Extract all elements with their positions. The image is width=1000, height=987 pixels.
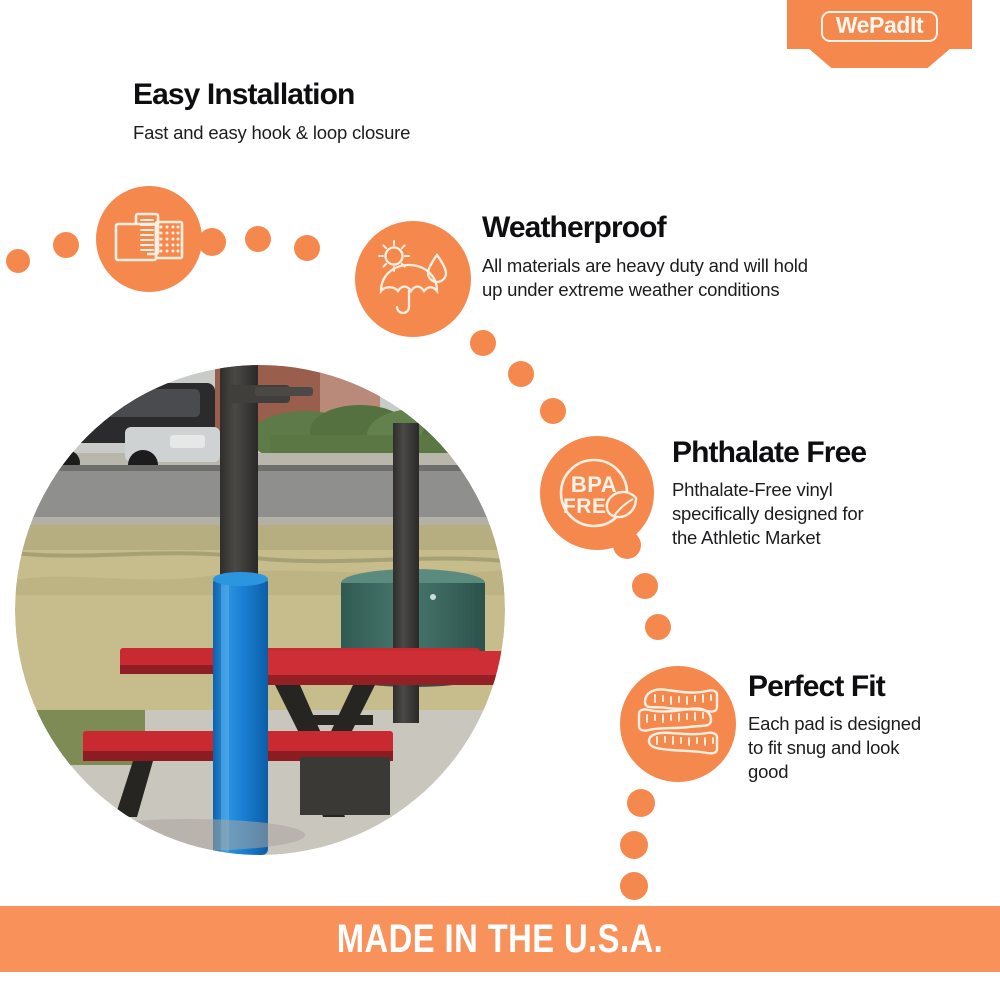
feature-description: Fast and easy hook & loop closure [133,121,410,145]
made-in-usa-text: MADE IN THE U.S.A. [337,917,663,962]
logo-banner-shape: WePadIt [787,0,972,68]
path-dot [53,232,79,258]
feature-title: Phthalate Free [672,437,962,469]
bpa-label-line1: BPA [571,472,617,497]
bpa-free-leaf-icon: BPA FREE [540,436,654,550]
product-photo [15,365,505,855]
feature-description-line2: to fit snug and look [748,736,988,760]
path-dot [540,398,566,424]
logo-text: WePadIt [836,12,924,38]
feature-title: Easy Installation [133,79,410,111]
hook-and-loop-icon [96,186,202,292]
path-dot [245,226,271,252]
feature-description-line1: Each pad is designed [748,712,988,736]
path-dot [645,614,671,640]
feature-description-line3: the Athletic Market [672,526,962,550]
feature-phthalate-free: Phthalate Free Phthalate-Free vinyl spec… [672,437,962,551]
path-dot [198,228,226,256]
path-dot [632,573,658,599]
photo-illustration [15,365,505,855]
path-dot [6,249,30,273]
feature-weatherproof: Weatherproof All materials are heavy dut… [482,212,902,302]
feature-perfect-fit: Perfect Fit Each pad is designed to fit … [748,671,988,785]
feature-description-line2: up under extreme weather conditions [482,278,902,302]
path-dot [620,831,648,859]
feature-description-line1: Phthalate-Free vinyl [672,478,962,502]
measuring-tape-icon [620,666,736,782]
path-dot [620,872,648,900]
infographic-page: WePadIt Easy Installation Fast and easy … [0,0,1000,987]
feature-easy-installation: Easy Installation Fast and easy hook & l… [133,79,410,145]
path-dot [470,330,496,356]
logo-outline-box: WePadIt [821,11,939,42]
feature-description-line2: specifically designed for [672,502,962,526]
feature-title: Weatherproof [482,212,902,244]
path-dot [508,361,534,387]
feature-description-line3: good [748,760,988,784]
path-dot [627,789,655,817]
brand-logo: WePadIt [787,0,972,68]
path-dot [294,235,320,261]
sun-umbrella-raindrop-icon [355,221,471,337]
feature-description-line1: All materials are heavy duty and will ho… [482,254,902,278]
feature-title: Perfect Fit [748,671,988,703]
made-in-usa-banner: MADE IN THE U.S.A. [0,906,1000,972]
